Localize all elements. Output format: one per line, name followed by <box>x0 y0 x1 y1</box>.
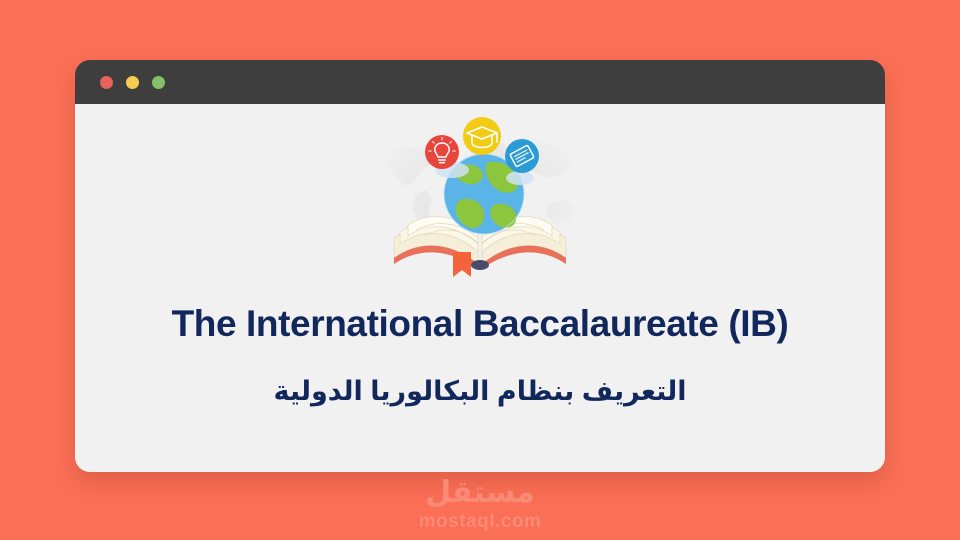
watermark-arabic-logo: مستقل <box>425 478 535 508</box>
window-minimize-dot[interactable] <box>126 76 139 89</box>
certificate-badge <box>505 139 539 173</box>
graduation-cap-badge <box>463 117 501 155</box>
window-close-dot[interactable] <box>100 76 113 89</box>
lightbulb-badge <box>425 135 459 169</box>
window-maximize-dot[interactable] <box>152 76 165 89</box>
watermark-domain: mostaql.com <box>419 512 542 531</box>
mostaql-watermark: مستقل mostaql.com <box>0 478 960 531</box>
browser-content-panel: The International Baccalaureate (IB) الت… <box>75 104 885 472</box>
slide-title-english: The International Baccalaureate (IB) <box>172 304 789 345</box>
browser-title-bar <box>75 60 885 104</box>
slide-background: The International Baccalaureate (IB) الت… <box>0 0 960 540</box>
browser-window-mockup: The International Baccalaureate (IB) الت… <box>75 60 885 472</box>
education-illustration <box>370 112 590 284</box>
slide-title-arabic: التعريف بنظام البكالوريا الدولية <box>273 375 686 407</box>
